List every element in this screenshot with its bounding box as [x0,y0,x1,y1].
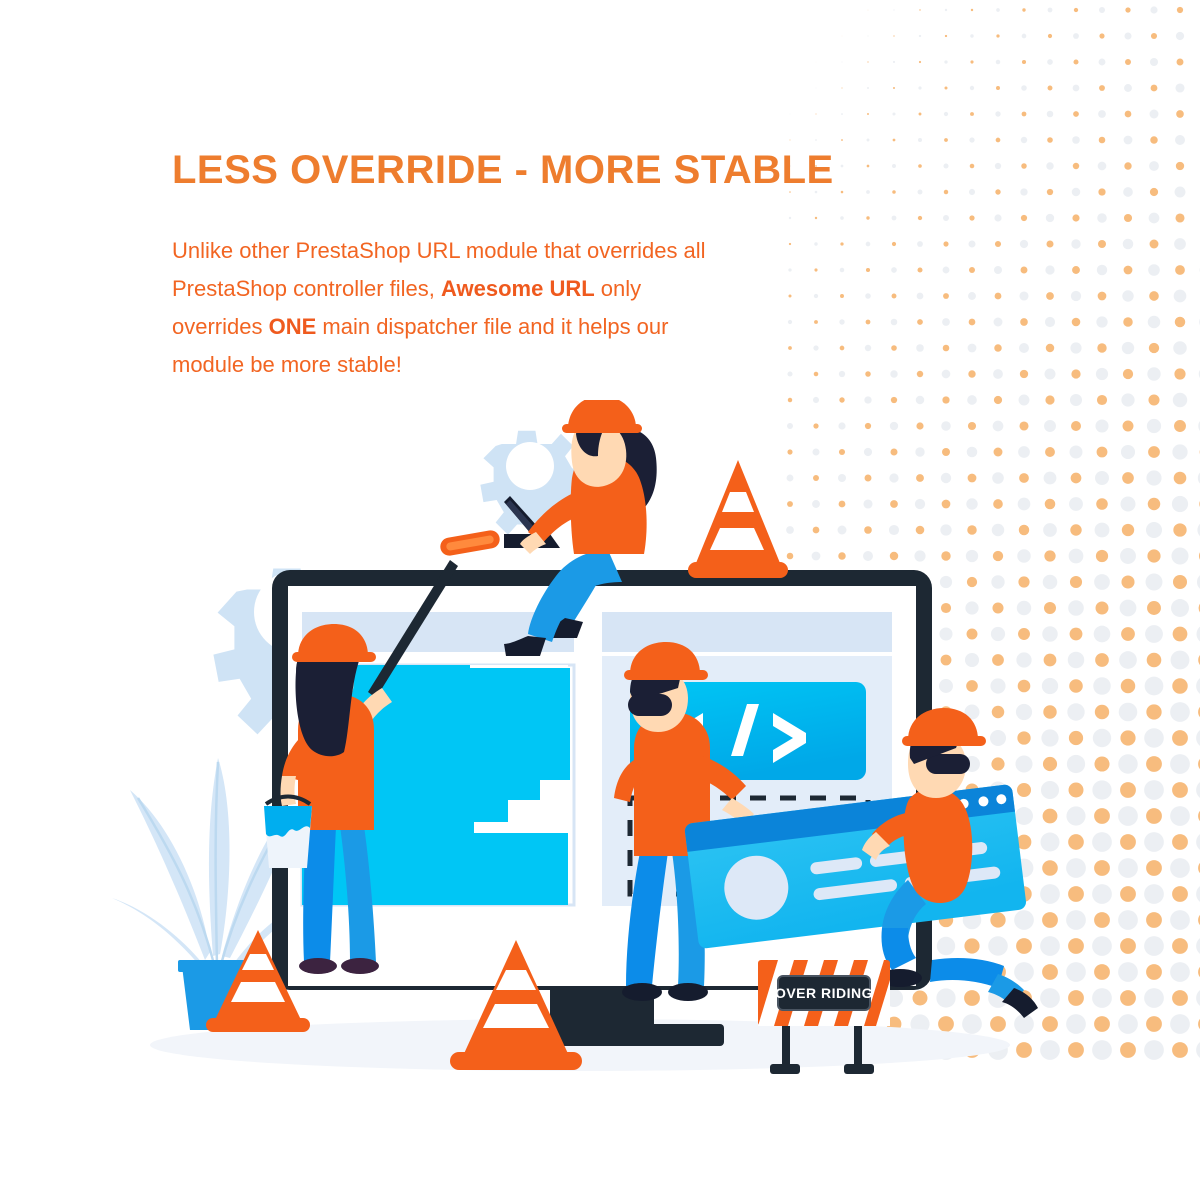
shoe-right [341,958,379,974]
page-title: LESS OVERRIDE - MORE STABLE [172,148,834,193]
shirt [904,788,973,903]
emphasis-text: Awesome URL [441,276,595,301]
page-description: Unlike other PrestaShop URL module that … [172,232,732,384]
paint-bucket-icon [264,797,312,869]
hair-side [628,694,672,716]
shoe-right [668,983,708,1001]
shoe-left [299,958,337,974]
shoe-left [622,983,662,1001]
helmet [568,400,636,428]
traffic-cone-right [688,460,788,578]
emphasis-text: ONE [269,314,317,339]
panel-header-bar-right [602,612,892,652]
hair-side [926,754,970,774]
paint-roller-icon [439,529,501,557]
sign-text: OVER RIDING [775,985,873,1001]
illustration-page: LESS OVERRIDE - MORE STABLE Unlike other… [0,0,1200,1200]
construction-illustration: OVER RIDING [110,400,1100,1100]
